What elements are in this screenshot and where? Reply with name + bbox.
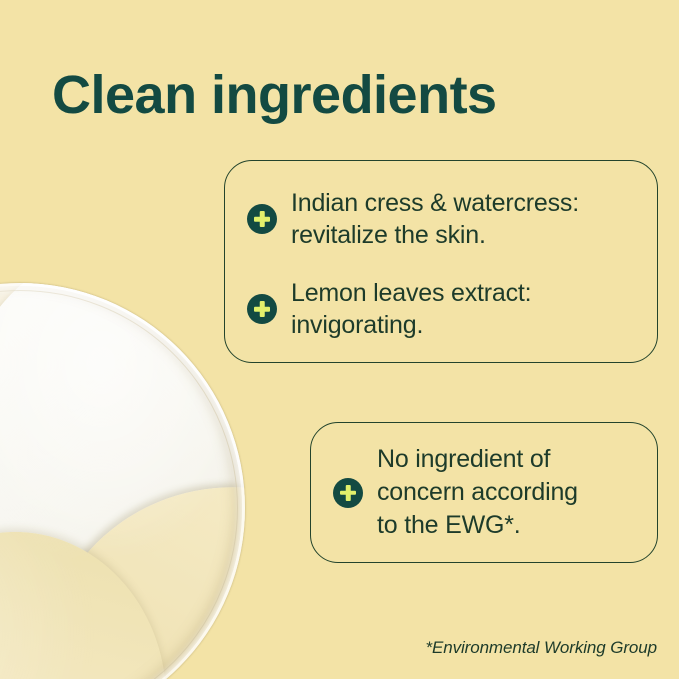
list-item-label: No ingredient of concern according to th…	[377, 443, 578, 542]
page-title: Clean ingredients	[52, 66, 497, 124]
plus-icon	[247, 294, 277, 324]
plus-icon	[333, 478, 363, 508]
list-item-line: No ingredient of	[377, 445, 550, 473]
list-item-line: revitalize the skin.	[291, 221, 486, 249]
list-item-line: invigorating.	[291, 311, 423, 339]
list-item-line: to the EWG*.	[377, 511, 521, 539]
footnote: *Environmental Working Group	[425, 638, 657, 658]
product-photo	[0, 283, 245, 679]
card-ewg: No ingredient of concern according to th…	[310, 422, 658, 563]
list-item-label: Lemon leaves extract: invigorating.	[291, 277, 531, 341]
infographic-canvas: Clean ingredients Indian cress & watercr…	[0, 0, 679, 679]
list-item-line: Lemon leaves extract:	[291, 279, 531, 307]
plus-icon	[247, 204, 277, 234]
list-item-line: concern according	[377, 478, 578, 506]
card-ingredients: Indian cress & watercress: revitalize th…	[224, 160, 658, 363]
list-item: Lemon leaves extract: invigorating.	[247, 277, 639, 341]
list-item-label: Indian cress & watercress: revitalize th…	[291, 187, 579, 251]
list-item-line: Indian cress & watercress:	[291, 189, 579, 217]
list-item: Indian cress & watercress: revitalize th…	[247, 187, 639, 251]
list-item: No ingredient of concern according to th…	[333, 439, 639, 546]
